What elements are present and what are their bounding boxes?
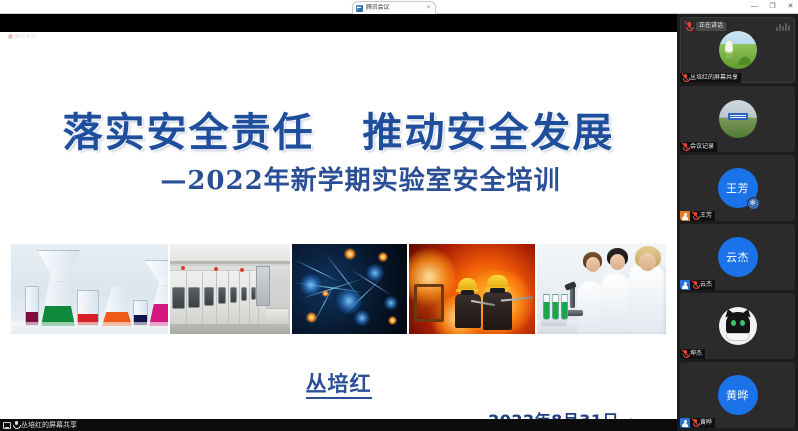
page-title: 落实安全责任 推动安全发展 [0, 110, 677, 156]
mic-muted-icon [683, 350, 688, 358]
flask-shape [133, 300, 148, 326]
mic-muted-icon [683, 74, 688, 82]
flask-shape [77, 290, 99, 326]
mic-muted-icon [693, 419, 698, 427]
participant-footer: 王芳 [680, 211, 715, 221]
participant-name: 王芳 [700, 212, 712, 220]
avatar: 云杰 [718, 237, 758, 277]
participant-name: 坤杰 [690, 350, 702, 358]
host-badge-icon: ✻ [747, 197, 760, 210]
participant-tile[interactable]: 黄晔 黄晔 [680, 362, 795, 428]
participant-chip-icon [680, 418, 690, 428]
name-pill: 丛培红的屏幕共享 [680, 73, 741, 83]
participant-tile[interactable]: 云杰 云杰 [680, 224, 795, 290]
share-status-text: 丛培红的屏幕共享 [21, 421, 77, 430]
watermark-dot-icon [8, 34, 13, 39]
researcher-figure [601, 272, 633, 334]
mic-muted-icon [683, 143, 688, 151]
participant-name: 会议记录 [690, 143, 714, 151]
participant-footer: 丛培红的屏幕共享 [680, 73, 741, 83]
participant-name: 黄晔 [700, 419, 712, 427]
host-chip-icon [680, 211, 690, 221]
watermark-text: 腾讯会议 [15, 33, 36, 40]
presentation-slide[interactable]: 腾讯会议 落实安全责任 推动安全发展 —2022年新学期实验室安全培训 [0, 32, 677, 425]
tab-title: 腾讯会议 [366, 4, 425, 12]
avatar: 王芳 ✻ [718, 168, 758, 208]
share-top-letterbox [0, 14, 677, 32]
participant-tile[interactable]: 会议记录 [680, 86, 795, 152]
shared-screen-region: 腾讯会议 落实安全责任 推动安全发展 —2022年新学期实验室安全培训 [0, 14, 677, 431]
tencent-meeting-window: 腾讯会议 × — ❐ ✕ 腾讯会议 落实安全责任 推动安全发展 —2022年新学… [0, 0, 798, 431]
participant-tile[interactable]: 王芳 ✻ 王芳 [680, 155, 795, 221]
avatar-initials: 云杰 [726, 249, 749, 265]
browser-tab-tencent-meeting[interactable]: 腾讯会议 × [352, 1, 436, 14]
flask-shape [41, 270, 75, 326]
slide-image-strip [11, 244, 666, 334]
participant-tile[interactable]: 坤杰 [680, 293, 795, 359]
browser-title-bar: 腾讯会议 × — ❐ ✕ [0, 0, 798, 14]
participant-rail[interactable]: 正在讲话 丛培红的屏幕共享 [677, 14, 798, 431]
screen-share-status-bar: 丛培红的屏幕共享 [0, 419, 677, 431]
slide-subtitle: —2022年新学期实验室安全培训 [0, 165, 677, 197]
avatar: 黄晔 [718, 375, 758, 415]
name-pill: 黄晔 [690, 418, 715, 428]
participant-chip-icon [680, 280, 690, 290]
microphone-icon [13, 421, 19, 429]
avatar [719, 31, 757, 69]
maximize-icon[interactable]: ❐ [768, 3, 777, 11]
name-pill: 王芳 [690, 211, 715, 221]
flask-shape [102, 286, 132, 326]
close-icon[interactable]: × [425, 4, 432, 12]
window-controls: — ❐ ✕ [750, 0, 795, 14]
mic-muted-icon [693, 281, 698, 289]
tencent-meeting-favicon [356, 5, 363, 12]
participant-name: 丛培红的屏幕共享 [690, 74, 738, 82]
presenter-name: 丛培红 [306, 372, 372, 399]
screen-share-icon [3, 422, 11, 429]
participant-footer: 坤杰 [680, 349, 705, 359]
mic-muted-icon [693, 212, 698, 220]
participant-name: 云杰 [700, 281, 712, 289]
flask-shape [149, 274, 168, 326]
name-pill: 云杰 [690, 280, 715, 290]
slide-presenter: 丛培红 [0, 368, 677, 398]
slide-title-wrap: 落实安全责任 推动安全发展 [0, 110, 677, 156]
avatar [719, 100, 757, 138]
participant-footer: 云杰 [680, 280, 715, 290]
neuron-network-photo [292, 244, 406, 334]
slide-watermark: 腾讯会议 [8, 33, 36, 40]
researchers-microscope-photo [537, 244, 666, 334]
participant-footer: 会议记录 [680, 142, 717, 152]
participant-tile[interactable]: 正在讲话 丛培红的屏幕共享 [680, 17, 795, 83]
avatar [719, 307, 757, 345]
avatar-initials: 王芳 [726, 180, 749, 196]
avatar-initials: 黄晔 [726, 387, 749, 403]
name-pill: 会议记录 [680, 142, 717, 152]
minimize-icon[interactable]: — [750, 3, 759, 11]
flask-shape [25, 286, 39, 326]
researcher-figure [629, 262, 666, 334]
firefighter-training-photo [409, 244, 535, 334]
name-pill: 坤杰 [680, 349, 705, 359]
participant-footer: 黄晔 [680, 418, 715, 428]
lab-glassware-photo [11, 244, 168, 334]
close-window-icon[interactable]: ✕ [786, 3, 795, 11]
fume-hood-corridor-photo [170, 244, 290, 334]
